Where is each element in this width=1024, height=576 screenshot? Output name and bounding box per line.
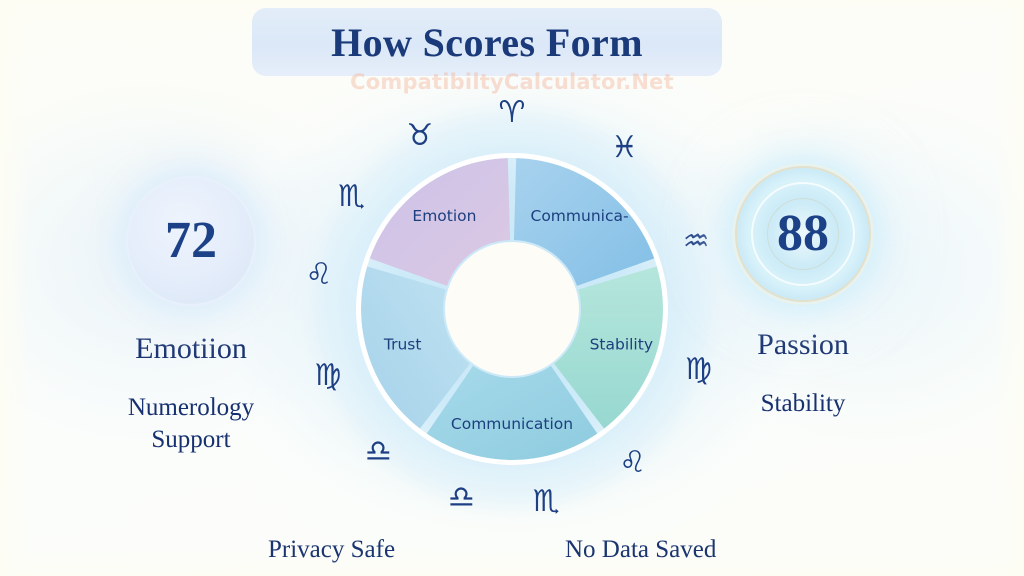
score-caption-right: Passion <box>700 328 906 362</box>
donut-label-communication: Communica- <box>531 207 629 225</box>
score-card-left: 72 Emotiion Numerology Support <box>88 178 294 456</box>
donut-chart: Communica-StabilityCommunicationTrustEmo… <box>355 152 669 466</box>
page-title-banner: How Scores Form <box>252 8 722 76</box>
score-card-right: 88 Passion Stability <box>700 168 906 420</box>
virgo-icon-2: ♍ <box>314 361 341 391</box>
libra-icon: ♎ <box>448 483 475 513</box>
donut-hub <box>445 242 579 376</box>
donut-label-trust: Trust <box>383 336 422 354</box>
scorpio-icon: ♏ <box>533 487 560 517</box>
score-caption-left: Emotiion <box>88 332 294 366</box>
score-subtext-left-line1: Numerology <box>88 392 294 424</box>
aries-icon: ♈ <box>499 98 526 128</box>
donut-label-stability: Stability <box>590 336 653 354</box>
taurus-icon: ♉ <box>407 121 434 151</box>
page-title: How Scores Form <box>331 19 643 66</box>
donut-label-communication-2: Communication <box>451 415 573 433</box>
score-subtext-left-line2: Support <box>88 424 294 456</box>
footer-no-data-saved: No Data Saved <box>565 536 716 564</box>
score-dial-left: 72 <box>128 178 254 304</box>
score-subtext-left: Numerology Support <box>88 392 294 456</box>
score-subtext-right-line1: Stability <box>700 388 906 420</box>
score-wheel: ♈♓♒♍♌♏♎♎♍♌♏♉ Co <box>292 92 732 524</box>
score-subtext-right: Stability <box>700 388 906 420</box>
score-value-left: 72 <box>165 215 217 267</box>
infographic-canvas: How Scores Form CompatibiltyCalculator.N… <box>0 0 1024 576</box>
footer-privacy-safe: Privacy Safe <box>268 536 395 564</box>
donut-label-emotion: Emotion <box>412 207 476 225</box>
leo-icon-2: ♌ <box>306 260 333 290</box>
score-value-right: 88 <box>777 208 829 260</box>
score-dial-right: 88 <box>737 168 869 300</box>
